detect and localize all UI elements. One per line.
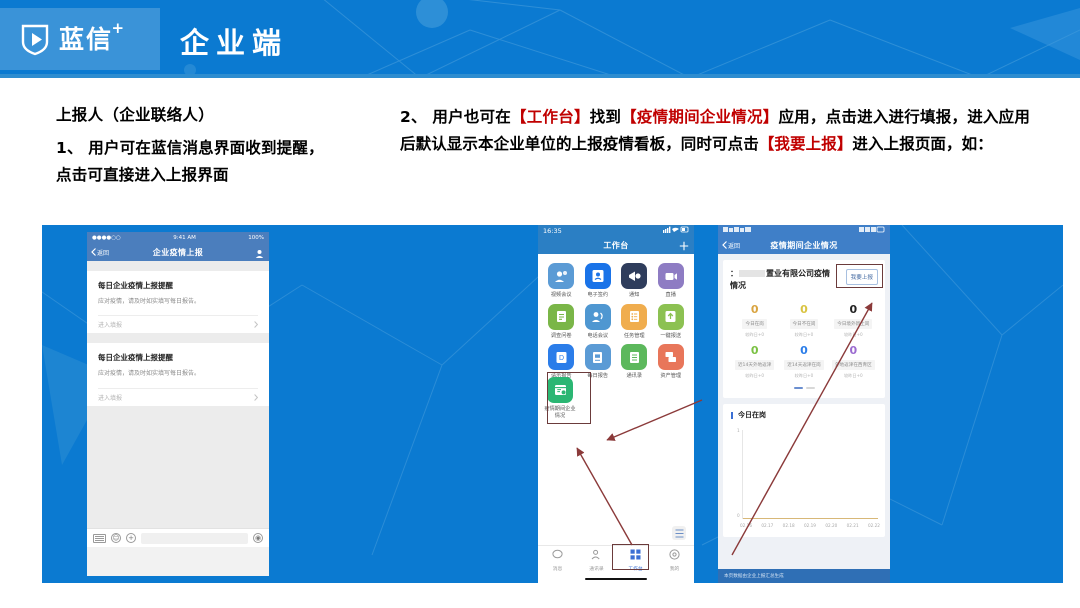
message-input[interactable] [141,533,248,544]
phone2-nav-bar: 工作台 [538,236,694,254]
y-axis-bottom-tick: 0 [737,513,740,518]
x-tick: 02.21 [847,523,859,528]
stat-label: 今日境外新上岗 [834,319,872,329]
stat-delta: 较昨日+0 [745,332,764,338]
contacts-tab-icon [591,549,602,563]
brand-logo: 蓝信 + [0,8,160,70]
header-underline [0,74,1080,78]
x-tick: 02.22 [868,523,880,528]
app-label: 通讯录 [618,373,651,380]
card-title: 每日企业疫情上报提醒 [98,280,258,291]
brand-name-text: 蓝信 [59,25,113,54]
carousel-dot-active[interactable] [794,387,803,389]
video-meeting-icon [548,263,574,289]
list-item[interactable]: 每日企业疫情上报提醒 应对疫情，请及时如实填写每日报告。 进入填报 [87,271,269,333]
left-step-1-cont: 点击可直接进入上报界面 [56,162,386,189]
app-label: 电子签约 [581,292,614,299]
phone-screenshot-dashboard: 返回 疫情期间企业情况 ：置业有限公司疫情情况 我要上报 0 今日在岗 较昨日+… [718,225,890,583]
status-time: 9:41 AM [173,235,196,241]
phone1-body: 每日企业疫情上报提醒 应对疫情，请及时如实填写每日报告。 进入填报 每日企业疫情… [87,261,269,547]
phone2-status-bar: 16:35 [538,225,694,236]
header-network-graphic [0,0,1080,78]
app-e-sign[interactable]: 电子签约 [580,263,617,299]
x-tick: 02.18 [783,523,795,528]
home-indicator [585,578,647,581]
chart-line-series [743,518,878,519]
tag-report-button: 【我要上报】 [759,135,853,153]
carousel-dots[interactable] [730,387,878,389]
phone1-input-bar: ☺ + ◉ [87,528,269,547]
plus-circle-icon[interactable]: + [126,533,136,543]
stat-delta: 较昨日+0 [795,373,814,379]
phone3-nav-bar: 返回 疫情期间企业情况 [718,236,890,254]
highlight-box-app [547,372,591,424]
phone-meeting-icon [585,304,611,330]
app-video-meeting[interactable]: 视频会议 [543,263,580,299]
back-button[interactable]: 返回 [91,248,109,257]
company-title-prefix: ： [730,269,738,278]
app-asset-manage[interactable]: 资产管理 [653,344,690,380]
phone-screenshot-message-list: ●●●●○○ 9:41 AM 100% 返回 企业疫情上报 每日企业疫情上报提醒… [87,232,269,576]
workbench-app-grid: 视频会议 电子签约 通知 直播 [538,254,694,380]
right-step-2-mid1: 找到 [590,108,621,126]
chevron-right-icon [254,321,258,328]
tab-label: 我的 [670,565,680,572]
phone3-nav-title: 疫情期间企业情况 [770,240,837,251]
app-phone-meeting[interactable]: 电话会议 [580,304,617,340]
right-step-2-suffix: 进入上报页面，如： [852,135,992,153]
stats-grid: 0 今日在岗 较昨日+0 0 今日不在岗 较昨日+0 0 今日境外新上岗 较昨日… [730,303,878,385]
left-text-column: 上报人（企业联络人） 1、 用户可在蓝信消息界面收到提醒， 点击可直接进入上报界… [56,104,386,189]
shield-play-icon [20,22,50,56]
dashboard-footer: 本页数据由企业上报汇总生成 [718,569,890,583]
signal-wifi-battery-icon [663,226,689,235]
dashboard-summary-card: ：置业有限公司疫情情况 我要上报 0 今日在岗 较昨日+0 0 今日不在岗 较昨… [723,260,885,398]
tab-messages[interactable]: 消息 [538,546,577,575]
app-label: 调查问卷 [545,333,578,340]
stat-label: 今日不在岗 [790,319,819,329]
emoji-icon[interactable]: ☺ [111,533,121,543]
app-label: 视频会议 [545,292,578,299]
stat-cell: 0 外地返津在西青区 较昨日+0 [829,344,878,385]
left-heading: 上报人（企业联络人） [56,104,386,126]
x-axis-labels: 02.16 02.17 02.18 02.19 02.20 02.21 02.2… [740,523,880,528]
app-label: 直播 [654,292,687,299]
screenshot-panel: ●●●●○○ 9:41 AM 100% 返回 企业疫情上报 每日企业疫情上报提醒… [42,225,1063,583]
chart-card: 今日在岗 1 0 02.16 02.17 02.18 02.19 02.20 0… [723,404,885,537]
card-subtitle: 应对疫情，请及时如实填写每日报告。 [98,370,258,378]
chevron-right-icon [254,394,258,401]
tab-contacts[interactable]: 通讯录 [577,546,616,575]
page-header: 蓝信 + 企业端 [0,0,1080,78]
app-task-manage[interactable]: 任务管理 [616,304,653,340]
chevron-left-icon [91,248,96,256]
stat-delta: 较昨日+0 [844,373,863,379]
tab-profile[interactable]: 我的 [655,546,694,575]
chart-title: 今日在岗 [731,412,878,419]
stat-value: 0 [849,303,857,316]
stat-cell: 0 今日不在岗 较昨日+0 [779,303,828,344]
app-notice[interactable]: 通知 [616,263,653,299]
stat-value: 0 [751,344,759,357]
highlight-box-report-button [836,264,883,288]
x-tick: 02.17 [761,523,773,528]
right-step-2: 2、 用户也可在【工作台】找到【疫情期间企业情况】应用，点击进入进行填报，进入应… [400,104,1030,157]
tab-label: 消息 [553,565,563,572]
battery-icon: 100% [248,235,264,241]
x-tick: 02.19 [804,523,816,528]
page-title: 企业端 [180,20,288,62]
app-contacts[interactable]: 通讯录 [616,344,653,380]
phone3-status-bar [718,225,890,236]
app-label: 任务管理 [618,333,651,340]
stat-cell: 0 今日境外新上岗 较昨日+0 [829,303,878,344]
chart-plot-area [742,430,878,519]
card-action[interactable]: 进入填报 [98,315,258,333]
stat-label: 外地返津在西青区 [832,360,875,370]
x-tick: 02.16 [740,523,752,528]
stat-delta: 较昨日+0 [844,332,863,338]
profile-tab-icon [669,549,680,563]
user-avatar-icon[interactable] [255,243,264,262]
tag-epidemic-app: 【疫情期间企业情况】 [621,108,778,126]
left-step-1: 1、 用户可在蓝信消息界面收到提醒， [56,135,386,162]
stat-label: 今日在岗 [742,319,766,329]
brand-name: 蓝信 + [59,27,113,52]
highlight-box-tab [612,544,649,570]
stat-value: 0 [800,303,808,316]
stat-cell: 0 今日在岗 较昨日+0 [730,303,779,344]
stat-delta: 较昨日+0 [795,332,814,338]
card-action-label: 进入填报 [98,393,122,402]
status-time: 16:35 [543,227,562,235]
back-label: 返回 [97,248,109,257]
daily-report-icon [585,344,611,370]
app-label: 资产管理 [654,373,687,380]
list-item[interactable]: 每日企业疫情上报提醒 应对疫情，请及时如实填写每日报告。 进入填报 [87,343,269,405]
phone-screenshot-workbench: 16:35 工作台 视频会议 [538,225,694,583]
brand-plus: + [111,21,126,36]
phone2-nav-title: 工作台 [603,240,628,251]
company-name-masked [739,270,765,277]
svg-text:D: D [559,355,564,362]
chat-icon [552,549,563,563]
stat-value: 0 [849,344,857,357]
keyboard-icon[interactable] [93,534,106,543]
back-button[interactable]: 返回 [722,241,740,250]
signal-icon: ●●●●○○ [92,235,121,241]
stat-label: 近14天外地返津 [735,360,774,370]
app-live[interactable]: 直播 [653,263,690,299]
phone1-nav-bar: 返回 企业疫情上报 [87,243,269,261]
carousel-dot[interactable] [806,387,815,389]
back-label: 返回 [728,241,740,250]
stat-value: 0 [800,344,808,357]
x-tick: 02.20 [825,523,837,528]
app-label: 一键报送 [654,333,687,340]
voice-icon[interactable]: ◉ [253,533,263,543]
app-label: 通知 [618,292,651,299]
card-subtitle: 应对疫情，请及时如实填写每日报告。 [98,298,258,306]
list-view-icon[interactable] [672,526,686,540]
y-axis-top-tick: 1 [737,428,740,433]
stat-cell: 0 近14天外地返津 较昨日+0 [730,344,779,385]
e-sign-icon [585,263,611,289]
card-action[interactable]: 进入填报 [98,388,258,406]
card-action-label: 进入填报 [98,320,122,329]
stat-label: 近14天返津在岗 [784,360,823,370]
battery-icons [859,226,885,235]
tag-workbench: 【工作台】 [511,108,590,126]
app-label: 电话会议 [581,333,614,340]
request-report-icon: D [548,344,574,370]
phone1-status-bar: ●●●●○○ 9:41 AM 100% [87,232,269,243]
one-key-report-icon [658,304,684,330]
stat-cell: 0 近14天返津在岗 较昨日+0 [779,344,828,385]
phone1-nav-title: 企业疫情上报 [153,247,203,258]
plus-icon[interactable] [679,236,689,255]
right-step-2-prefix: 2、 用户也可在 [400,108,511,126]
survey-icon [548,304,574,330]
company-title: ：置业有限公司疫情情况 [730,268,834,292]
asset-manage-icon [658,344,684,370]
live-icon [658,263,684,289]
card-title: 每日企业疫情上报提醒 [98,352,258,363]
stat-value: 0 [751,303,759,316]
signal-icons [723,226,753,235]
app-survey[interactable]: 调查问卷 [543,304,580,340]
app-one-key-report[interactable]: 一键报送 [653,304,690,340]
chevron-left-icon [722,241,727,249]
right-text-column: 2、 用户也可在【工作台】找到【疫情期间企业情况】应用，点击进入进行填报，进入应… [400,104,1030,157]
tab-label: 通讯录 [589,565,603,572]
stat-delta: 较昨日+0 [745,373,764,379]
task-manage-icon [621,304,647,330]
notice-icon [621,263,647,289]
contacts-icon [621,344,647,370]
